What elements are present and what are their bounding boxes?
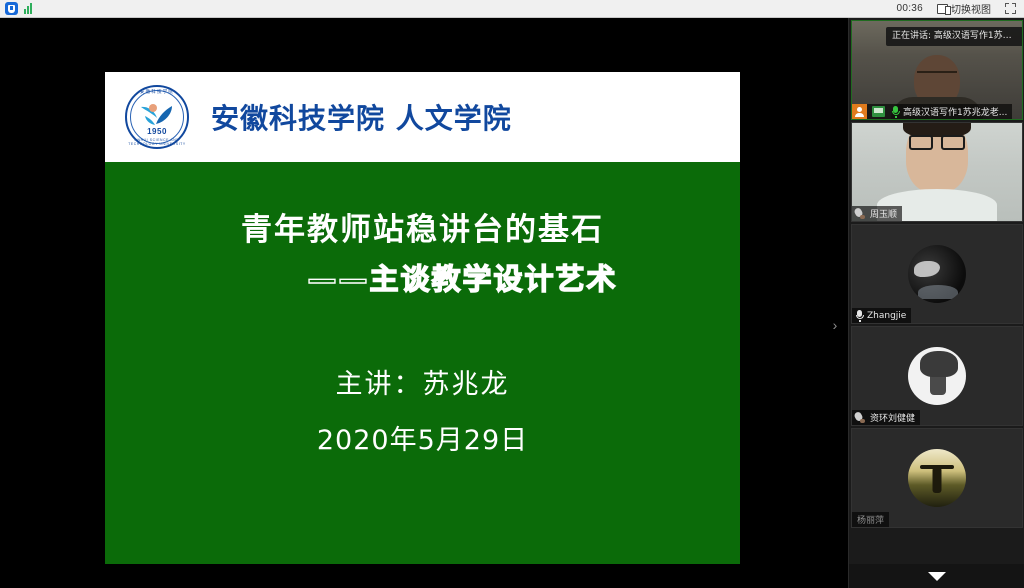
slide-body: 青年教师站稳讲台的基石 ——主谈教学设计艺术 主讲：苏兆龙 2020年5月29日 — [105, 162, 740, 564]
toolbar-left-group — [0, 2, 32, 15]
slide-header: 安徽科技学院 1950 ANHUI SCIENCE AND TECHNOLOGY… — [105, 72, 740, 162]
participant-name: 杨丽萍 — [852, 513, 884, 526]
screen-share-icon — [872, 106, 885, 117]
participant-tile[interactable]: 资环刘健健 — [851, 326, 1023, 426]
mic-figure-icon[interactable] — [852, 410, 867, 425]
participant-name: 资环刘健健 — [870, 411, 915, 424]
toolbar-right-group: 00:36 切换视图 — [896, 1, 1024, 16]
chevron-down-icon — [928, 572, 946, 581]
logo-arc-bottom-text: ANHUI SCIENCE AND TECHNOLOGY UNIVERSITY — [125, 138, 189, 146]
meeting-timer: 00:36 — [896, 3, 923, 14]
avatar — [908, 347, 966, 405]
logo-year: 1950 — [125, 127, 189, 136]
participant-name: 高级汉语写作1苏兆龙老... — [903, 105, 1007, 118]
switch-view-icon — [937, 4, 948, 14]
avatar — [908, 449, 966, 507]
participant-name: 周玉顺 — [870, 207, 897, 220]
participant-tile[interactable]: Zhangjie — [851, 224, 1023, 324]
participant-tile[interactable]: 杨丽萍 — [851, 428, 1023, 528]
participant-name: Zhangjie — [867, 311, 906, 321]
next-panel-chevron-icon[interactable]: › — [828, 312, 842, 338]
meeting-window: 00:36 切换视图 安徽科技学院 — [0, 0, 1024, 588]
slide-school-name: 安徽科技学院 人文学院 — [211, 97, 512, 137]
slide-speaker: 主讲：苏兆龙 — [105, 362, 740, 401]
participant-name-bar: Zhangjie — [852, 308, 911, 323]
participant-filmstrip: 正在讲话: 高级汉语写作1苏兆... 高级汉语写作1苏兆龙老... 周玉顺 — [848, 18, 1024, 588]
top-toolbar: 00:36 切换视图 — [0, 0, 1024, 18]
participant-name-bar: 周玉顺 — [852, 206, 902, 221]
signal-bars-icon[interactable] — [24, 3, 32, 14]
fullscreen-icon[interactable] — [1005, 3, 1016, 14]
presentation-slide: 安徽科技学院 1950 ANHUI SCIENCE AND TECHNOLOGY… — [105, 72, 740, 564]
participant-name-bar: 高级汉语写作1苏兆龙老... — [852, 104, 1012, 119]
participant-name-bar: 资环刘健健 — [852, 410, 920, 425]
logo-dot-shape — [149, 104, 157, 112]
host-icon — [852, 104, 867, 119]
shared-screen-stage: 安徽科技学院 1950 ANHUI SCIENCE AND TECHNOLOGY… — [0, 18, 848, 588]
participant-tile-active-speaker[interactable]: 正在讲话: 高级汉语写作1苏兆... 高级汉语写作1苏兆龙老... — [851, 20, 1023, 120]
mic-on-icon[interactable] — [891, 106, 900, 118]
avatar — [908, 245, 966, 303]
slide-subtitle: ——主谈教学设计艺术 — [105, 256, 740, 298]
filmstrip-scroll-down-button[interactable] — [849, 564, 1024, 588]
switch-view-button[interactable]: 切换视图 — [937, 1, 991, 16]
mic-figure-icon[interactable] — [852, 206, 867, 221]
participant-name-bar: 杨丽萍 — [852, 512, 889, 527]
slide-date: 2020年5月29日 — [105, 418, 740, 457]
shield-icon[interactable] — [5, 2, 18, 15]
mic-on-icon[interactable] — [855, 310, 864, 322]
switch-view-label: 切换视图 — [951, 1, 991, 16]
university-logo-icon: 安徽科技学院 1950 ANHUI SCIENCE AND TECHNOLOGY… — [125, 85, 189, 149]
participant-tile[interactable]: 周玉顺 — [851, 122, 1023, 222]
logo-wing-shape — [139, 104, 175, 126]
speaking-tooltip: 正在讲话: 高级汉语写作1苏兆... — [886, 27, 1023, 46]
logo-arc-top-text: 安徽科技学院 — [125, 89, 189, 95]
slide-title: 青年教师站稳讲台的基石 — [105, 204, 740, 249]
